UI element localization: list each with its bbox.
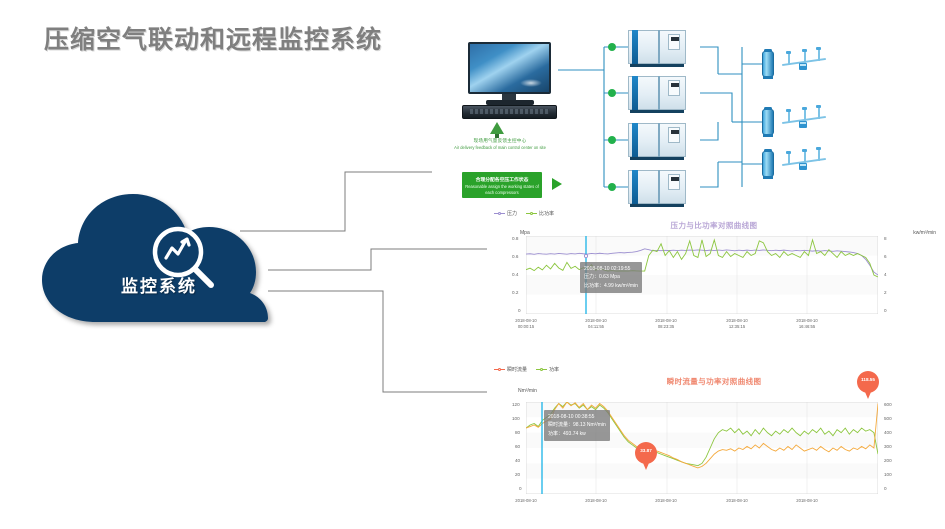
chart1-y2tick: 6 [884, 254, 887, 259]
chart2-xtick: 2018-08-10 [636, 498, 696, 504]
chart2-xtick: 2018-08-10 [777, 498, 837, 504]
distribution-pipeline [780, 148, 828, 174]
system-diagram-panel[interactable]: 现场用气量反馈主控中心 Air delivery feedback of mai… [432, 22, 937, 208]
chart2-ytick: 40 [515, 458, 520, 463]
tree-icon [490, 122, 504, 134]
chart2-y2tick: 600 [884, 402, 892, 407]
callout-text-en: Reasonable assign the working states of … [465, 184, 539, 197]
chart2-marker-pin[interactable]: 118.55 [857, 371, 879, 401]
tooltip-line1: 压力：0.63 Mpa [584, 273, 638, 281]
chart2-ytick: 100 [512, 416, 520, 421]
chart2-ytick: 60 [515, 444, 520, 449]
chart2-ytick: 20 [515, 472, 520, 477]
chart1-ytick: 0.2 [512, 290, 518, 295]
compressor-unit [628, 27, 686, 67]
legend-item[interactable]: 压力 [494, 210, 517, 217]
monitoring-cloud[interactable]: 监控系统 [34, 190, 284, 330]
tooltip-line2: 比功率：4.99 kw/m³/min [584, 282, 638, 290]
page-title: 压缩空气联动和远程监控系统 [44, 20, 382, 56]
chart2-marker-pin[interactable]: 33.87 [635, 442, 657, 472]
tooltip-timestamp: 2018-08-10 02:19:55 [584, 265, 638, 273]
distribution-pipeline [780, 48, 828, 74]
chart2-legend[interactable]: 瞬时流量 功率 [494, 366, 559, 373]
chart1-plot[interactable] [526, 236, 878, 314]
legend-label: 比功率 [539, 210, 554, 217]
flow-power-chart-panel[interactable]: 瞬时流量 功率 瞬时流量与功率对照曲线图 Nm³/min 120 100 80 … [488, 366, 940, 526]
legend-marker [526, 211, 537, 216]
chart1-ytick: 0.6 [512, 254, 518, 259]
legend-marker [494, 211, 505, 216]
chart2-y2tick: 300 [884, 444, 892, 449]
legend-item[interactable]: 功率 [536, 366, 559, 373]
marker-label: 33.87 [635, 448, 657, 453]
cloud-shape [34, 190, 284, 330]
chart2-xtick: 2018-08-10 [707, 498, 767, 504]
chart2-y2tick: 0 [884, 486, 887, 491]
chart1-legend[interactable]: 压力 比功率 [494, 210, 554, 217]
chart1-y2-unit: kw/m³/min [913, 230, 936, 236]
air-tank [762, 149, 774, 179]
chart1-ytick: 0.4 [512, 272, 518, 277]
arrow-right-icon [552, 178, 562, 190]
legend-item[interactable]: 瞬时流量 [494, 366, 527, 373]
chart2-ytick: 80 [515, 430, 520, 435]
legend-label: 瞬时流量 [507, 366, 527, 373]
chart1-ytick: 0.8 [512, 236, 518, 241]
legend-label: 压力 [507, 210, 517, 217]
tooltip-line1: 瞬时流量：98.13 Nm³/min [548, 421, 606, 429]
compressor-unit [628, 167, 686, 207]
chart2-y2tick: 200 [884, 458, 892, 463]
chart1-xtick: 2018-08-1016:46:55 [777, 318, 837, 330]
chart1-xtick: 2018-08-1000:00:15 [496, 318, 556, 330]
chart2-ytick: 0 [519, 486, 522, 491]
marker-label: 118.55 [857, 377, 879, 382]
chart2-tooltip: 2018-08-10 00:38:55 瞬时流量：98.13 Nm³/min 功… [544, 410, 610, 441]
chart1-y2tick: 2 [884, 290, 887, 295]
chart1-xtick: 2018-08-1012:35:15 [707, 318, 767, 330]
chart2-xtick: 2018-08-10 [566, 498, 626, 504]
chart2-y-unit: Nm³/min [518, 388, 537, 394]
pressure-power-chart-panel[interactable]: 压力 比功率 压力与比功率对照曲线图 Mpa kw/m³/min 0.8 0.6… [488, 210, 940, 338]
chart1-title: 压力与比功率对照曲线图 [488, 220, 940, 231]
chart1-y2tick: 0 [884, 308, 887, 313]
air-tank [762, 49, 774, 79]
control-center-monitor [462, 42, 557, 120]
chart2-xtick: 2018-08-10 [496, 498, 556, 504]
chart1-y2tick: 4 [884, 272, 887, 277]
compressor-unit [628, 120, 686, 160]
legend-marker [536, 367, 547, 372]
chart1-ytick: 0 [518, 308, 521, 313]
chart2-y2tick: 100 [884, 472, 892, 477]
legend-label: 功率 [549, 366, 559, 373]
chart1-tooltip: 2018-08-10 02:19:55 压力：0.63 Mpa 比功率：4.99… [580, 262, 642, 293]
legend-marker [494, 367, 505, 372]
chart2-y2tick: 500 [884, 416, 892, 421]
keyboard [462, 105, 557, 119]
monitor-screen [468, 42, 551, 94]
slide-canvas: 压缩空气联动和远程监控系统 监控系统 [0, 0, 945, 529]
chart1-xtick: 2018-08-1004:11:55 [566, 318, 626, 330]
compressor-unit [628, 73, 686, 113]
chart1-xtick: 2018-08-1008:23:35 [636, 318, 696, 330]
legend-item[interactable]: 比功率 [526, 210, 554, 217]
distribution-pipeline [780, 106, 828, 132]
tooltip-line2: 功率：493.74 kw [548, 430, 606, 438]
monitor-caption-en: Air delivery feedback of main control ce… [440, 145, 560, 151]
chart2-y2tick: 400 [884, 430, 892, 435]
working-status-callout: 合理分配各空压工作状态 Reasonable assign the workin… [462, 172, 542, 198]
chart2-ytick: 120 [512, 402, 520, 407]
tooltip-timestamp: 2018-08-10 00:38:55 [548, 413, 606, 421]
air-tank [762, 107, 774, 137]
callout-text-cn: 合理分配各空压工作状态 [462, 176, 542, 183]
monitor-caption-cn: 现场用气量反馈主控中心 [440, 138, 560, 145]
chart1-y2tick: 8 [884, 236, 887, 241]
